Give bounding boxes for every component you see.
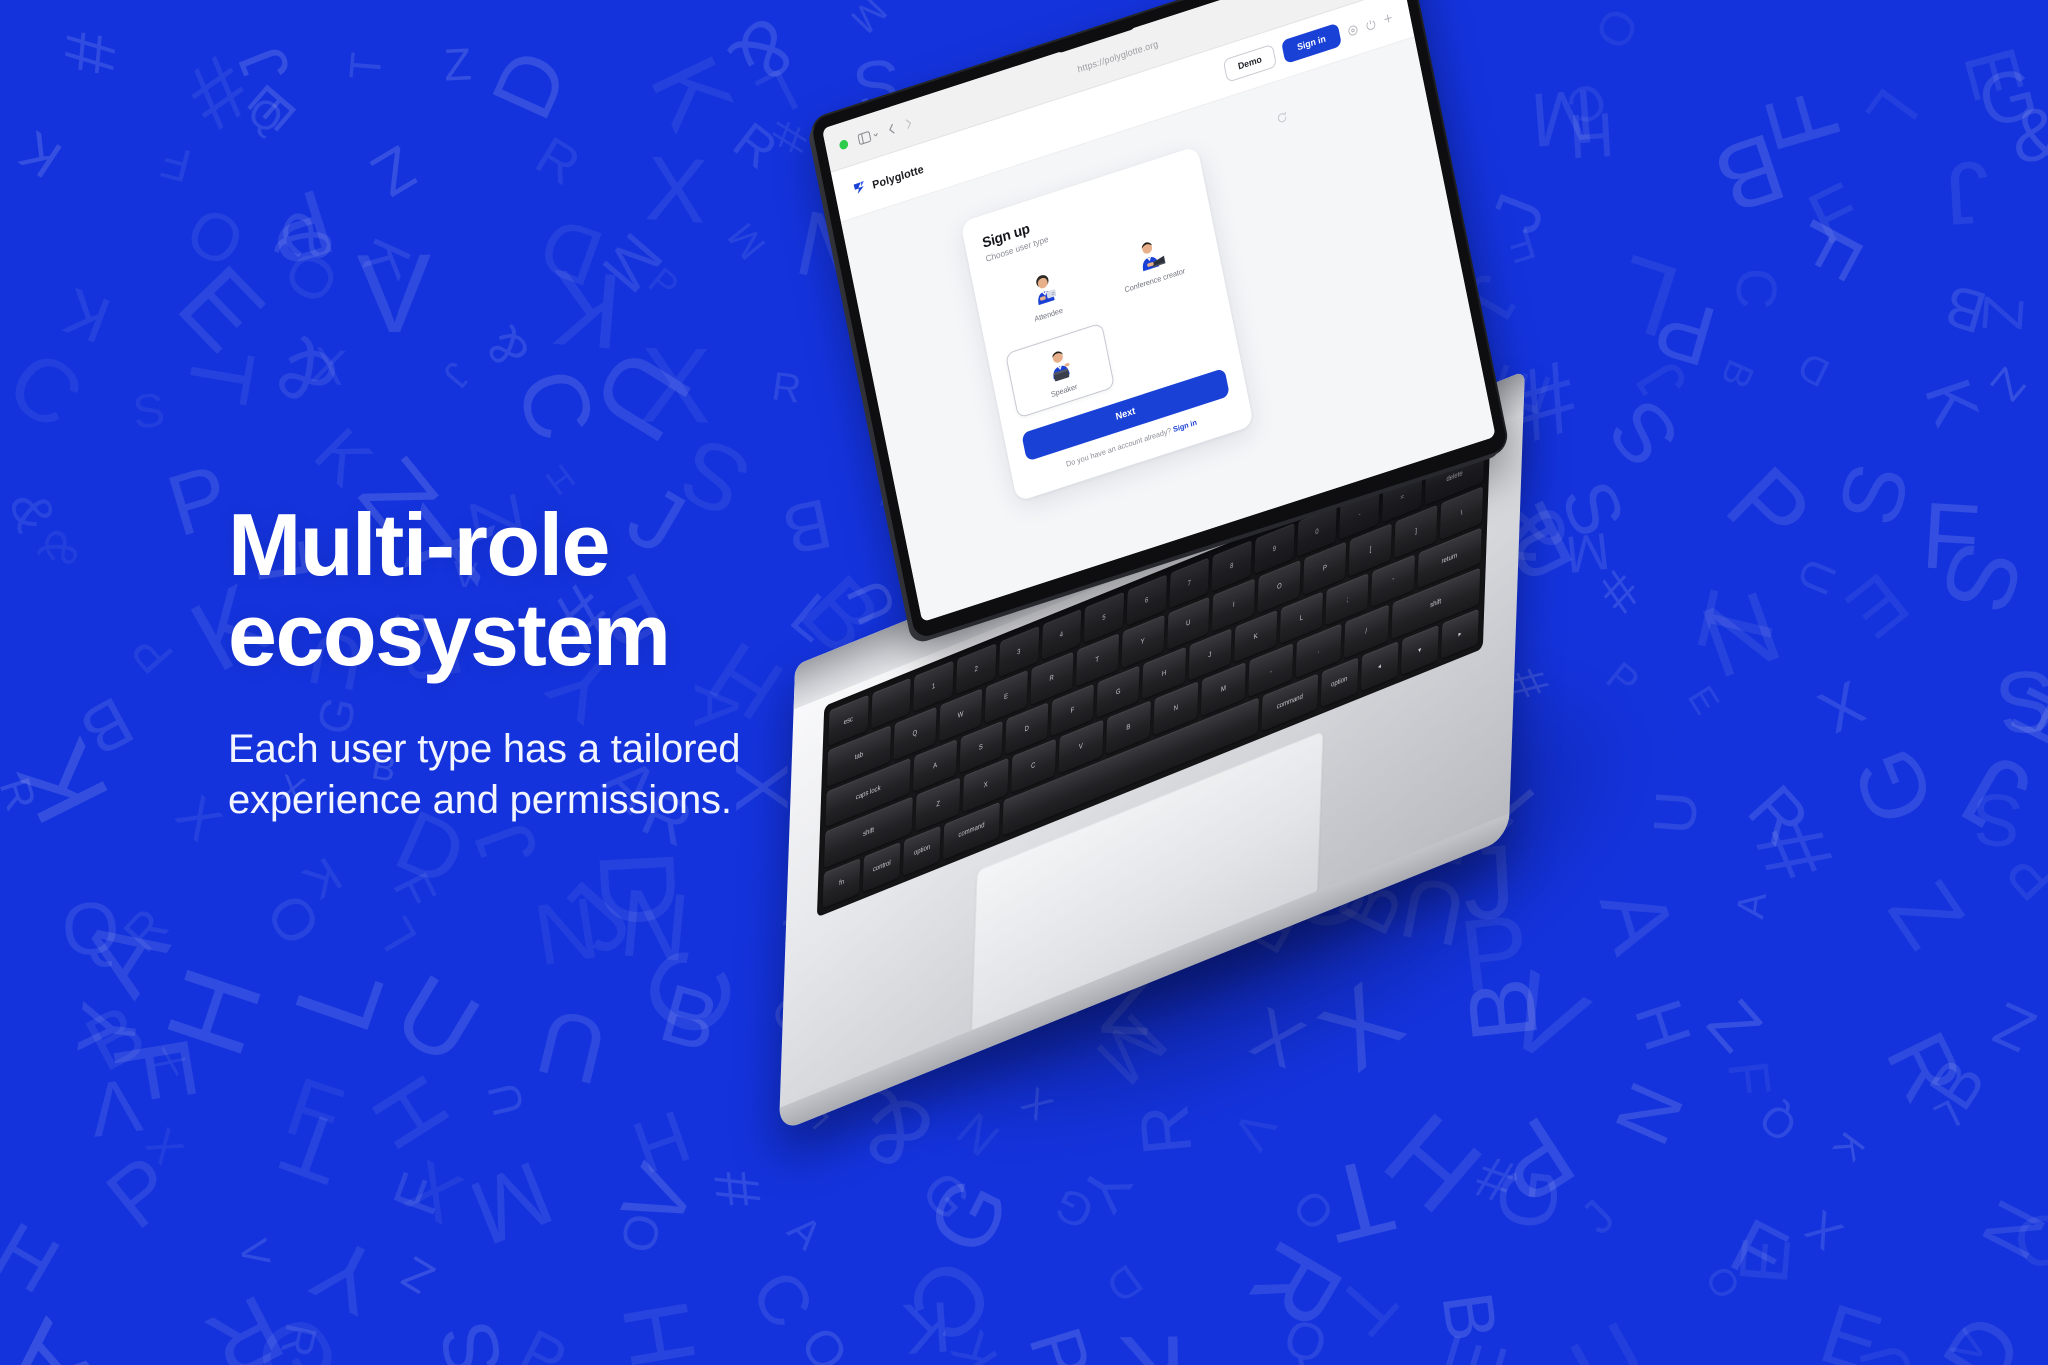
background-letter: F bbox=[1919, 488, 1982, 585]
background-letter: X bbox=[139, 1121, 192, 1172]
background-letter: G bbox=[236, 1301, 355, 1365]
background-letter: H bbox=[1366, 1094, 1500, 1231]
background-letter: L bbox=[748, 58, 807, 129]
background-letter: Z bbox=[1985, 992, 2043, 1062]
background-letter: G bbox=[1048, 1179, 1101, 1237]
sign-in-link[interactable]: Sign in bbox=[1172, 417, 1197, 434]
background-letter: K bbox=[354, 231, 421, 288]
background-letter: R bbox=[770, 367, 804, 410]
background-letter: F bbox=[277, 1064, 352, 1159]
background-letter: K bbox=[1914, 372, 1989, 434]
background-letter: E bbox=[1729, 1235, 1802, 1287]
attendee-avatar bbox=[1024, 267, 1063, 311]
plus-icon[interactable] bbox=[1383, 13, 1393, 25]
background-letter: # bbox=[172, 41, 267, 146]
background-letter: R bbox=[527, 129, 588, 195]
background-letter: T bbox=[173, 342, 268, 410]
headline-line-1: Multi-role bbox=[228, 495, 609, 594]
background-letter: G bbox=[1485, 1163, 1572, 1234]
background-letter: H bbox=[0, 1209, 72, 1306]
background-letter: P bbox=[92, 1142, 189, 1244]
background-letter: & bbox=[1, 487, 65, 538]
background-letter: # bbox=[760, 115, 816, 158]
background-letter: O bbox=[258, 884, 332, 953]
background-letter: O bbox=[1284, 1181, 1342, 1238]
background-letter: T bbox=[1324, 1264, 1409, 1347]
role-label: Conference creator bbox=[1124, 267, 1186, 295]
background-letter: Q bbox=[243, 90, 290, 141]
background-letter: K bbox=[11, 121, 70, 185]
background-letter: B bbox=[1919, 1048, 1997, 1120]
background-letter: X bbox=[166, 787, 230, 850]
background-letter: F bbox=[385, 865, 445, 916]
background-letter: X bbox=[1797, 1202, 1850, 1257]
background-letter: E bbox=[238, 74, 305, 139]
background-letter: E bbox=[1812, 1290, 1891, 1365]
background-letter: J bbox=[1943, 147, 1992, 238]
background-letter: C bbox=[501, 358, 610, 451]
background-letter: J bbox=[1947, 735, 2044, 852]
background-letter: D bbox=[479, 39, 583, 131]
background-letter: V bbox=[1223, 1103, 1283, 1158]
background-letter: O bbox=[274, 242, 350, 313]
background-letter: U bbox=[573, 331, 708, 456]
creator-avatar bbox=[1130, 233, 1169, 277]
background-letter: D bbox=[1928, 1301, 2038, 1365]
background-letter: R bbox=[1232, 1225, 1360, 1343]
background-letter: F bbox=[95, 1030, 213, 1113]
speaker-avatar bbox=[1039, 342, 1078, 386]
background-letter: J bbox=[436, 356, 477, 394]
background-letter: R bbox=[1872, 1020, 1977, 1114]
background-letter: & bbox=[257, 325, 353, 422]
background-letter: A bbox=[780, 1209, 828, 1258]
background-letter: U bbox=[381, 959, 495, 1082]
background-letter: N bbox=[1969, 1190, 2048, 1269]
background-letter: N bbox=[616, 876, 694, 977]
background-letter: K bbox=[901, 1290, 953, 1364]
background-letter: C bbox=[891, 1240, 1011, 1359]
background-letter: P bbox=[511, 1320, 576, 1365]
background-letter: U bbox=[529, 993, 615, 1098]
background-letter: F bbox=[1720, 1205, 1798, 1296]
background-letter: C bbox=[0, 334, 98, 444]
background-letter: K bbox=[0, 727, 126, 838]
background-letter: F bbox=[1719, 1058, 1780, 1099]
background-letter: Q bbox=[59, 890, 121, 968]
chevron-right-icon[interactable] bbox=[904, 117, 913, 130]
brand-name: Polyglotte bbox=[871, 163, 924, 191]
background-letter: P bbox=[256, 174, 343, 282]
background-letter: G bbox=[1839, 735, 1950, 835]
background-letter: K bbox=[303, 416, 384, 497]
background-letter: S bbox=[1826, 455, 1925, 533]
background-letter: M bbox=[843, 0, 892, 38]
recording-indicator-dot bbox=[839, 139, 849, 151]
background-letter: Y bbox=[300, 1220, 396, 1329]
background-letter: O bbox=[177, 195, 254, 279]
laptop-mockup: esc 1 2 3 4 5 6 7 8 9 0 - = delete bbox=[880, 120, 1820, 1040]
background-letter: Z bbox=[363, 136, 426, 207]
background-letter: H bbox=[356, 1062, 464, 1163]
background-letter: V bbox=[85, 1065, 146, 1147]
background-letter: F bbox=[156, 138, 195, 190]
background-letter: Q bbox=[1753, 1095, 1805, 1149]
background-letter: & bbox=[263, 203, 350, 277]
background-letter: L bbox=[368, 910, 426, 960]
reload-icon[interactable] bbox=[1275, 109, 1289, 130]
background-letter: O bbox=[2007, 1199, 2048, 1281]
background-letter: A bbox=[0, 1303, 106, 1365]
background-letter: P bbox=[642, 261, 685, 306]
background-letter: G bbox=[1972, 56, 2044, 140]
background-letter: R bbox=[0, 773, 42, 816]
background-letter: L bbox=[1855, 78, 1929, 145]
background-letter: K bbox=[295, 848, 349, 907]
background-letter: R bbox=[116, 900, 178, 961]
background-letter: E bbox=[161, 249, 281, 369]
power-icon[interactable] bbox=[1365, 18, 1376, 31]
background-letter: V bbox=[233, 1236, 276, 1269]
background-letter: P bbox=[1478, 1098, 1590, 1219]
background-letter: U bbox=[482, 1078, 532, 1119]
background-letter: S bbox=[428, 1316, 515, 1365]
background-letter: K bbox=[1826, 1126, 1870, 1168]
background-letter: R bbox=[273, 1320, 323, 1361]
background-letter: C bbox=[739, 1259, 825, 1340]
background-letter: N bbox=[529, 883, 604, 978]
brand[interactable]: Polyglotte bbox=[851, 159, 926, 202]
background-letter: P bbox=[1996, 837, 2048, 910]
background-letter: L bbox=[278, 950, 402, 1044]
background-letter: & bbox=[476, 318, 539, 377]
background-letter: U bbox=[1850, 1337, 1927, 1365]
background-letter: B bbox=[1938, 273, 1992, 341]
background-letter: U bbox=[1558, 1308, 1661, 1365]
background-letter: Y bbox=[65, 998, 151, 1061]
background-letter: P bbox=[1017, 1319, 1102, 1365]
background-letter: S bbox=[1995, 656, 2048, 746]
chevron-left-icon[interactable] bbox=[887, 123, 896, 136]
background-letter: B bbox=[652, 972, 726, 1065]
background-letter: B bbox=[1430, 1288, 1507, 1345]
background-letter: M bbox=[459, 1145, 564, 1259]
background-letter: D bbox=[1099, 1256, 1150, 1309]
background-letter: T bbox=[273, 1093, 356, 1197]
background-letter: X bbox=[643, 145, 709, 240]
background-letter: L bbox=[1929, 1093, 1966, 1138]
background-letter: H bbox=[149, 956, 281, 1068]
background-letter: J bbox=[228, 37, 301, 92]
background-letter: # bbox=[1469, 1146, 1521, 1214]
background-letter: Z bbox=[396, 1248, 442, 1300]
background-letter: & bbox=[29, 521, 91, 578]
background-letter: & bbox=[717, 4, 812, 99]
background-letter: C bbox=[621, 932, 758, 1057]
sidebar-icon[interactable] bbox=[857, 128, 879, 145]
background-letter: K bbox=[546, 254, 626, 366]
background-letter: A bbox=[63, 897, 186, 1010]
background-letter: Z bbox=[1972, 294, 2031, 332]
background-letter: X bbox=[308, 340, 348, 394]
background-letter: M bbox=[591, 222, 672, 302]
background-letter: E bbox=[1834, 560, 1921, 651]
background-letter: D bbox=[531, 204, 613, 299]
background-letter: V bbox=[609, 1154, 710, 1242]
background-letter: B bbox=[71, 685, 144, 767]
background-letter: X bbox=[394, 1149, 472, 1237]
background-letter: X bbox=[1811, 672, 1874, 744]
background-letter: J bbox=[1573, 1192, 1624, 1243]
background-letter: R bbox=[193, 1280, 296, 1365]
signup-card: Sign up Choose user type bbox=[960, 146, 1254, 502]
background-letter: Z bbox=[1873, 867, 1978, 963]
background-letter: V bbox=[357, 238, 433, 351]
background-letter: F bbox=[383, 1167, 453, 1223]
background-letter: T bbox=[343, 51, 389, 81]
background-letter: X bbox=[639, 331, 712, 439]
background-letter: E bbox=[1952, 41, 2035, 107]
background-letter: S bbox=[1925, 532, 2038, 625]
background-letter: K bbox=[633, 43, 748, 143]
background-letter: Z bbox=[1983, 360, 2032, 407]
demo-button[interactable]: Demo bbox=[1223, 44, 1277, 83]
polyglotte-logo-icon bbox=[851, 177, 869, 202]
background-letter: D bbox=[582, 848, 693, 931]
background-letter: P bbox=[123, 624, 182, 681]
background-letter: B bbox=[75, 992, 157, 1084]
background-letter: O bbox=[792, 1318, 857, 1365]
background-letter: S bbox=[130, 387, 167, 438]
background-letter: & bbox=[2008, 95, 2048, 175]
background-letter: Z bbox=[443, 41, 473, 87]
background-letter: E bbox=[1430, 1328, 1520, 1365]
role-label: Attendee bbox=[1034, 307, 1064, 325]
background-letter: K bbox=[1118, 1319, 1187, 1365]
hero-slide: ##JEZTDKL&SMENYTSZMOCFLEGKFPQZRXR#KUEVL#… bbox=[0, 0, 2048, 1365]
sign-in-button[interactable]: Sign in bbox=[1281, 23, 1342, 64]
background-letter: M bbox=[722, 216, 773, 266]
background-letter: T bbox=[1314, 1140, 1403, 1259]
background-letter: O bbox=[613, 1209, 670, 1258]
background-letter: H bbox=[539, 456, 580, 499]
background-letter: J bbox=[542, 866, 650, 971]
background-letter: H bbox=[1996, 676, 2048, 759]
background-letter: O bbox=[1698, 1261, 1746, 1306]
background-letter: K bbox=[55, 278, 118, 354]
background-letter: N bbox=[1602, 1071, 1696, 1153]
role-label: Speaker bbox=[1050, 382, 1078, 399]
background-letter: V bbox=[1945, 1324, 1997, 1365]
background-letter: Q bbox=[1278, 1311, 1332, 1365]
background-letter: # bbox=[706, 1168, 772, 1209]
background-letter: H bbox=[624, 1099, 699, 1186]
background-letter: H bbox=[609, 1294, 711, 1365]
background-letter: S bbox=[1971, 781, 2025, 858]
background-letter: R bbox=[724, 114, 786, 178]
background-letter: K bbox=[942, 1323, 1008, 1365]
role-option-conference-creator[interactable]: Conference creator bbox=[1096, 212, 1206, 309]
hero-subcopy: Each user type has a tailored experience… bbox=[228, 724, 858, 826]
background-letter: # bbox=[51, 30, 126, 76]
background-letter: X bbox=[147, 1043, 190, 1080]
background-letter: O bbox=[1586, 0, 1645, 55]
help-circle-icon[interactable] bbox=[1347, 23, 1358, 36]
